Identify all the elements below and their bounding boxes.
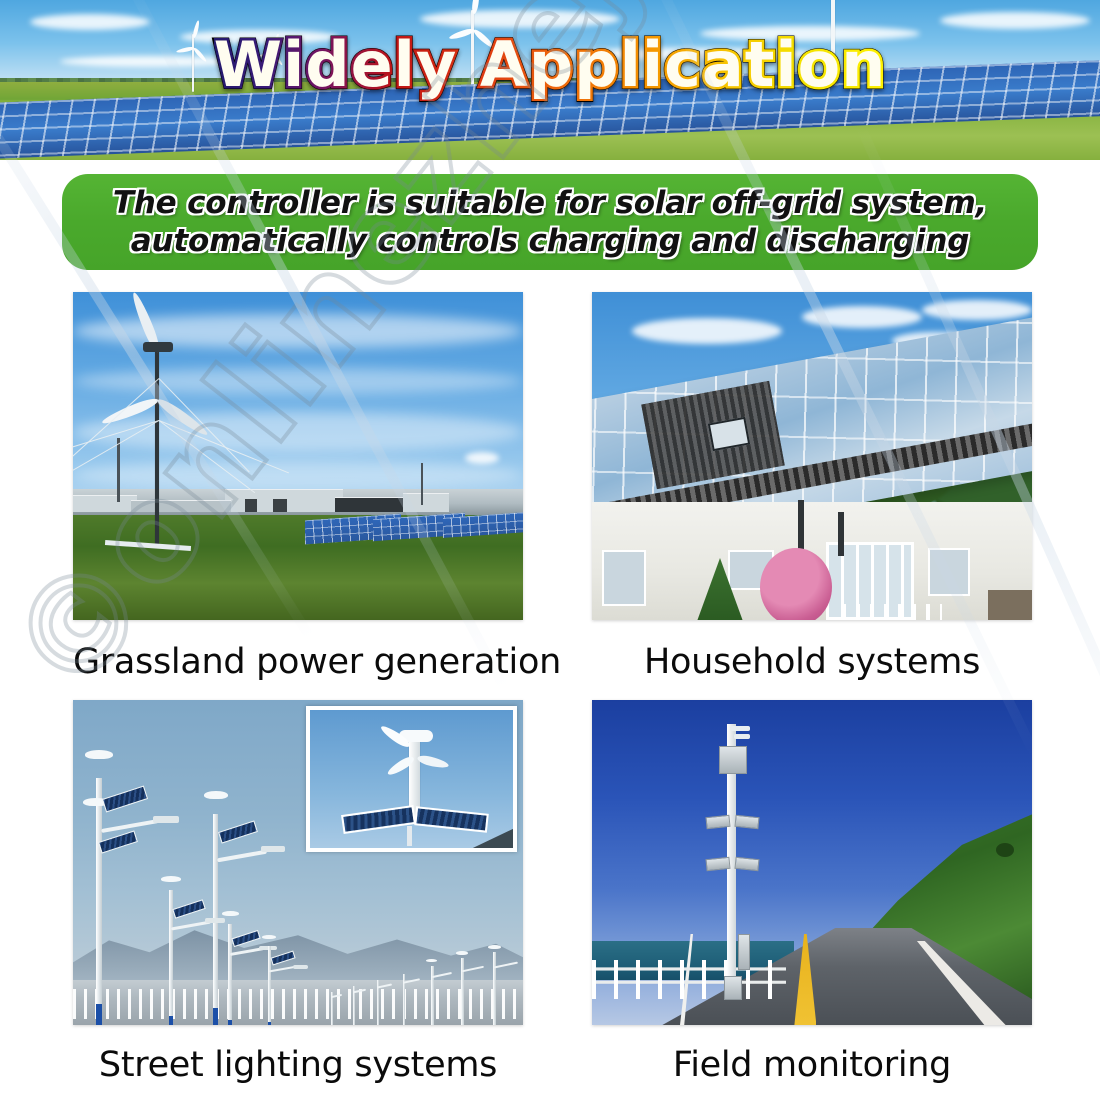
field-monitoring-photo [592,700,1032,1025]
hybrid-street-lamp [401,970,408,1025]
cloud-icon [632,318,782,344]
window [602,550,646,606]
hybrid-street-lamp [209,796,223,1025]
cloud-icon [940,12,1090,29]
gallery-item-household: Household systems [592,292,1032,682]
hybrid-street-lamp [329,988,335,1025]
door [245,499,257,512]
promo-banner: The controller is suitable for solar off… [62,174,1038,270]
cloud-icon [802,306,922,328]
downpipe [838,512,844,556]
gallery-item-street-lighting: Street lighting systems [73,700,523,1085]
cabinet [738,934,750,970]
hybrid-street-lamp [165,880,177,1025]
cloud-icon [465,452,499,464]
solar-panel [341,805,416,834]
hillside-right [988,590,1032,620]
antenna-panel [734,857,759,871]
inset-photo-wind-turbine [306,706,518,852]
caption-street-lighting: Street lighting systems [73,1045,523,1085]
utility-pole [117,438,120,502]
anemometer-icon [734,734,750,739]
flowering-shrub [760,548,832,620]
hero-title-wrap: Widely Application Widely Application Wi… [0,28,1100,101]
cloud-icon [922,300,1032,320]
street-lighting-photo [73,700,523,1025]
caption-household: Household systems [592,642,1032,682]
wind-turbine-icon [383,716,445,820]
hybrid-street-lamp [351,982,357,1025]
page-title: Widely Application Widely Application Wi… [214,28,887,101]
sensor-enclosure [719,746,747,774]
household-photo [592,292,1032,620]
promo-banner-line-2: automatically controls charging and disc… [131,223,969,259]
antenna-panel [734,815,759,829]
caption-grassland: Grassland power generation [73,642,523,682]
antenna-panel [705,857,730,871]
panel-support [407,826,412,845]
antenna-panel [705,815,730,829]
building [335,497,407,512]
monitoring-mast [714,706,748,998]
mast-base [724,976,742,1000]
guardrail [592,960,786,999]
door [273,499,287,512]
hybrid-street-lamp [429,962,436,1025]
page-title-fill: Widely Application [214,28,887,101]
fence [73,989,523,1018]
wind-turbine-icon [125,310,245,530]
hybrid-street-lamp [225,914,235,1025]
grassland-photo [73,292,523,620]
promo-banner-line-1: The controller is suitable for solar off… [113,185,987,221]
hybrid-street-lamp [491,948,499,1025]
anemometer-icon [730,726,750,731]
hybrid-street-lamp [265,938,274,1025]
railing [842,604,942,620]
hybrid-street-lamp [375,976,381,1025]
gallery-item-grassland: Grassland power generation [73,292,523,682]
hybrid-street-lamp [91,756,107,1025]
window [928,548,970,596]
promo-banner-text: The controller is suitable for solar off… [99,184,1001,261]
gallery-item-field-monitoring: Field monitoring [592,700,1032,1085]
hero-banner: Widely Application Widely Application Wi… [0,0,1100,160]
building [403,493,449,512]
solar-panel [415,806,490,833]
utility-pole [421,463,423,505]
hybrid-street-lamp [459,954,467,1025]
caption-field-monitoring: Field monitoring [592,1045,1032,1085]
